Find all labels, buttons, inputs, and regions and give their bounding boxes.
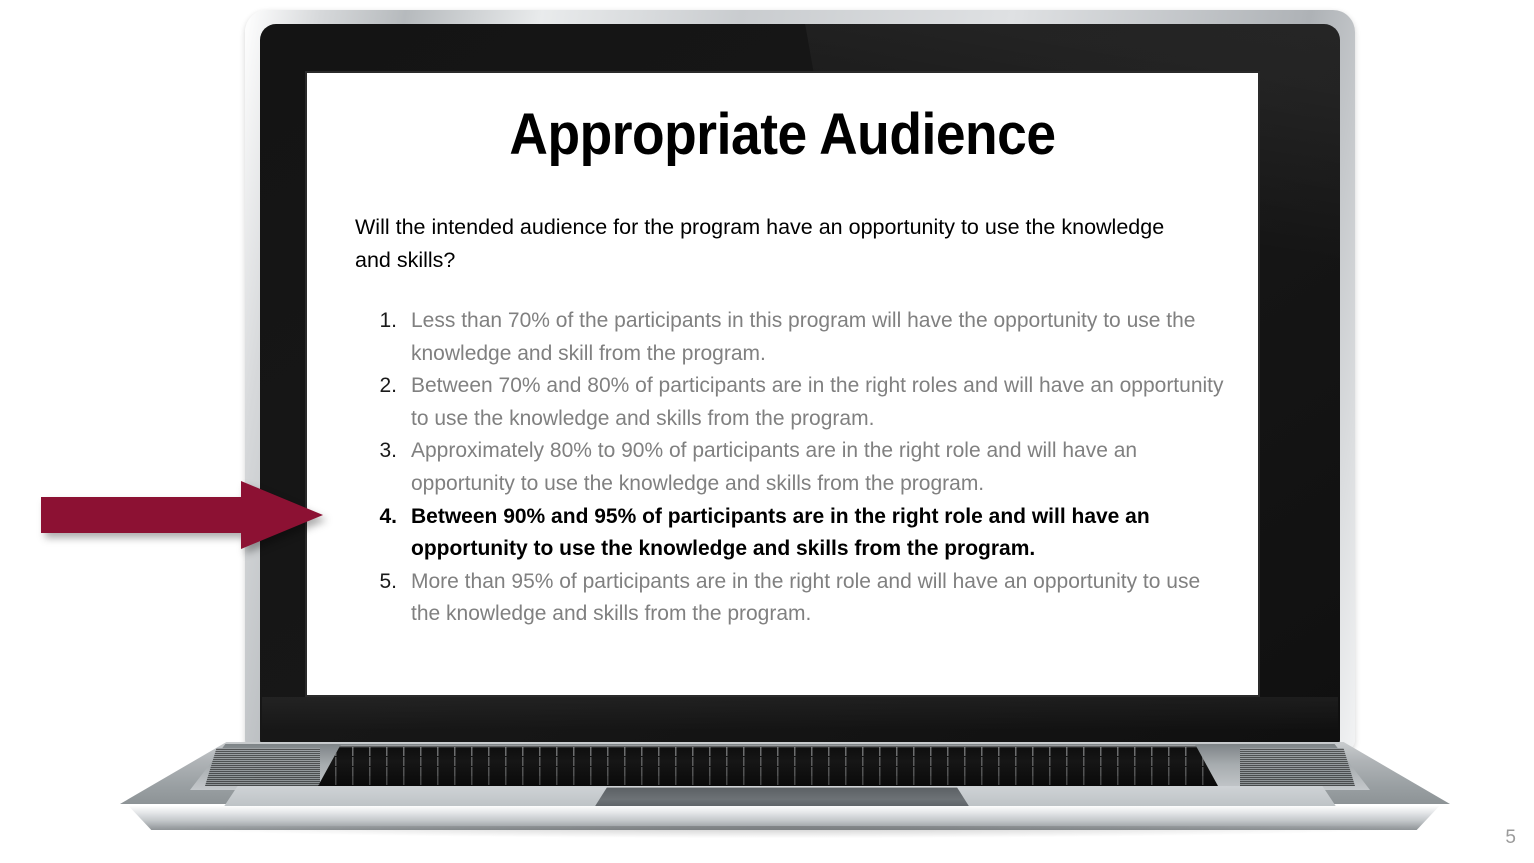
list-item-marker: 2. [355,370,411,403]
list-item: 1. Less than 70% of the participants in … [355,305,1235,370]
list-item: 5. More than 95% of participants are in … [355,566,1235,631]
keyboard-row [318,757,1218,766]
list-item-highlighted: 4. Between 90% and 95% of participants a… [355,501,1235,566]
list-item-marker: 4. [355,501,411,534]
page-number: 5 [1505,827,1516,849]
list-item: 2. Between 70% and 80% of participants a… [355,370,1235,435]
list-item-marker: 3. [355,435,411,468]
laptop-drop-shadow [150,826,1420,838]
presentation-slide: Appropriate Audience Will the intended a… [307,73,1258,695]
keyboard-row [318,767,1218,776]
keyboard-row [318,747,1218,756]
speaker-grille-right [1240,748,1355,786]
laptop-keyboard [318,745,1218,786]
list-item-text: Between 70% and 80% of participants are … [411,370,1235,435]
slide-intro-question: Will the intended audience for the progr… [355,211,1205,277]
list-item-text: More than 95% of participants are in the… [411,566,1235,631]
list-item-text: Less than 70% of the participants in thi… [411,305,1235,370]
laptop-illustration: Appropriate Audience Will the intended a… [0,0,1534,863]
answer-options-list: 1. Less than 70% of the participants in … [355,305,1235,631]
speaker-grille-left [205,748,320,786]
keyboard-row [318,776,1218,785]
slide-title: Appropriate Audience [345,101,1220,168]
right-arrow-icon [41,479,323,551]
list-item-text: Between 90% and 95% of participants are … [411,501,1235,566]
list-item: 3. Approximately 80% to 90% of participa… [355,435,1235,500]
list-item-marker: 1. [355,305,411,338]
list-item-text: Approximately 80% to 90% of participants… [411,435,1235,500]
list-item-marker: 5. [355,566,411,599]
